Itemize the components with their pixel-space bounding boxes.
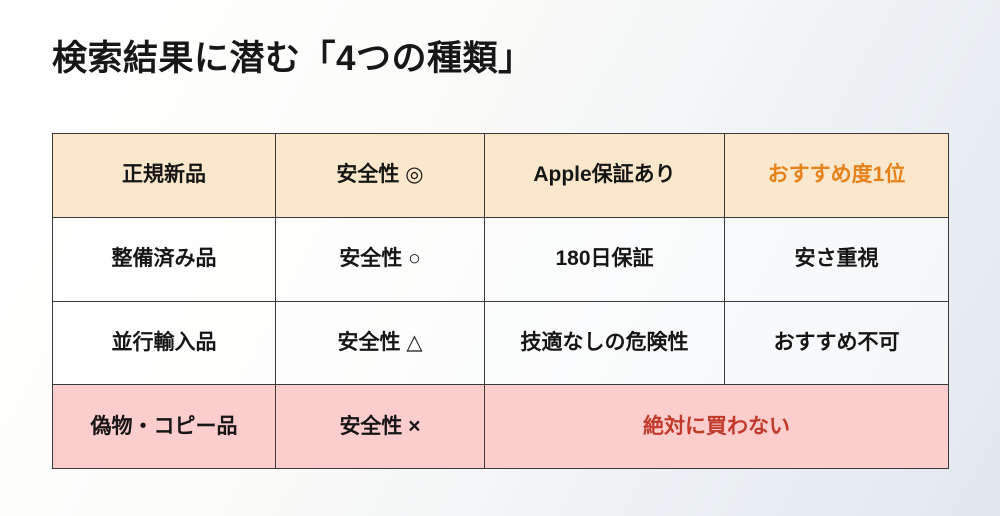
- page-title: 検索結果に潜む「4つの種類」: [52, 38, 533, 80]
- table-row: 正規新品 安全性 ◎ Apple保証あり おすすめ度1位: [53, 134, 949, 218]
- slide-canvas: 検索結果に潜む「4つの種類」 正規新品 安全性 ◎ Apple保証あり おすすめ…: [0, 0, 1000, 516]
- table-cell-category: 整備済み品: [53, 217, 276, 301]
- table-cell-category: 正規新品: [53, 134, 276, 218]
- table-cell-recommendation: おすすめ不可: [725, 301, 949, 385]
- table-cell-verdict: 絶対に買わない: [485, 385, 949, 469]
- table-cell-recommendation: 安さ重視: [725, 217, 949, 301]
- table-cell-safety: 安全性 ○: [276, 217, 485, 301]
- table-cell-warranty: 180日保証: [485, 217, 725, 301]
- table-cell-category: 偽物・コピー品: [53, 385, 276, 469]
- table-cell-safety: 安全性 ×: [276, 385, 485, 469]
- table-row: 整備済み品 安全性 ○ 180日保証 安さ重視: [53, 217, 949, 301]
- table-cell-warranty: 技適なしの危険性: [485, 301, 725, 385]
- comparison-table: 正規新品 安全性 ◎ Apple保証あり おすすめ度1位 整備済み品 安全性 ○…: [52, 133, 949, 469]
- table-cell-category: 並行輸入品: [53, 301, 276, 385]
- table-row: 並行輸入品 安全性 △ 技適なしの危険性 おすすめ不可: [53, 301, 949, 385]
- table-cell-warranty: Apple保証あり: [485, 134, 725, 218]
- table-cell-safety: 安全性 ◎: [276, 134, 485, 218]
- table-row: 偽物・コピー品 安全性 × 絶対に買わない: [53, 385, 949, 469]
- table-cell-recommendation: おすすめ度1位: [725, 134, 949, 218]
- table-cell-safety: 安全性 △: [276, 301, 485, 385]
